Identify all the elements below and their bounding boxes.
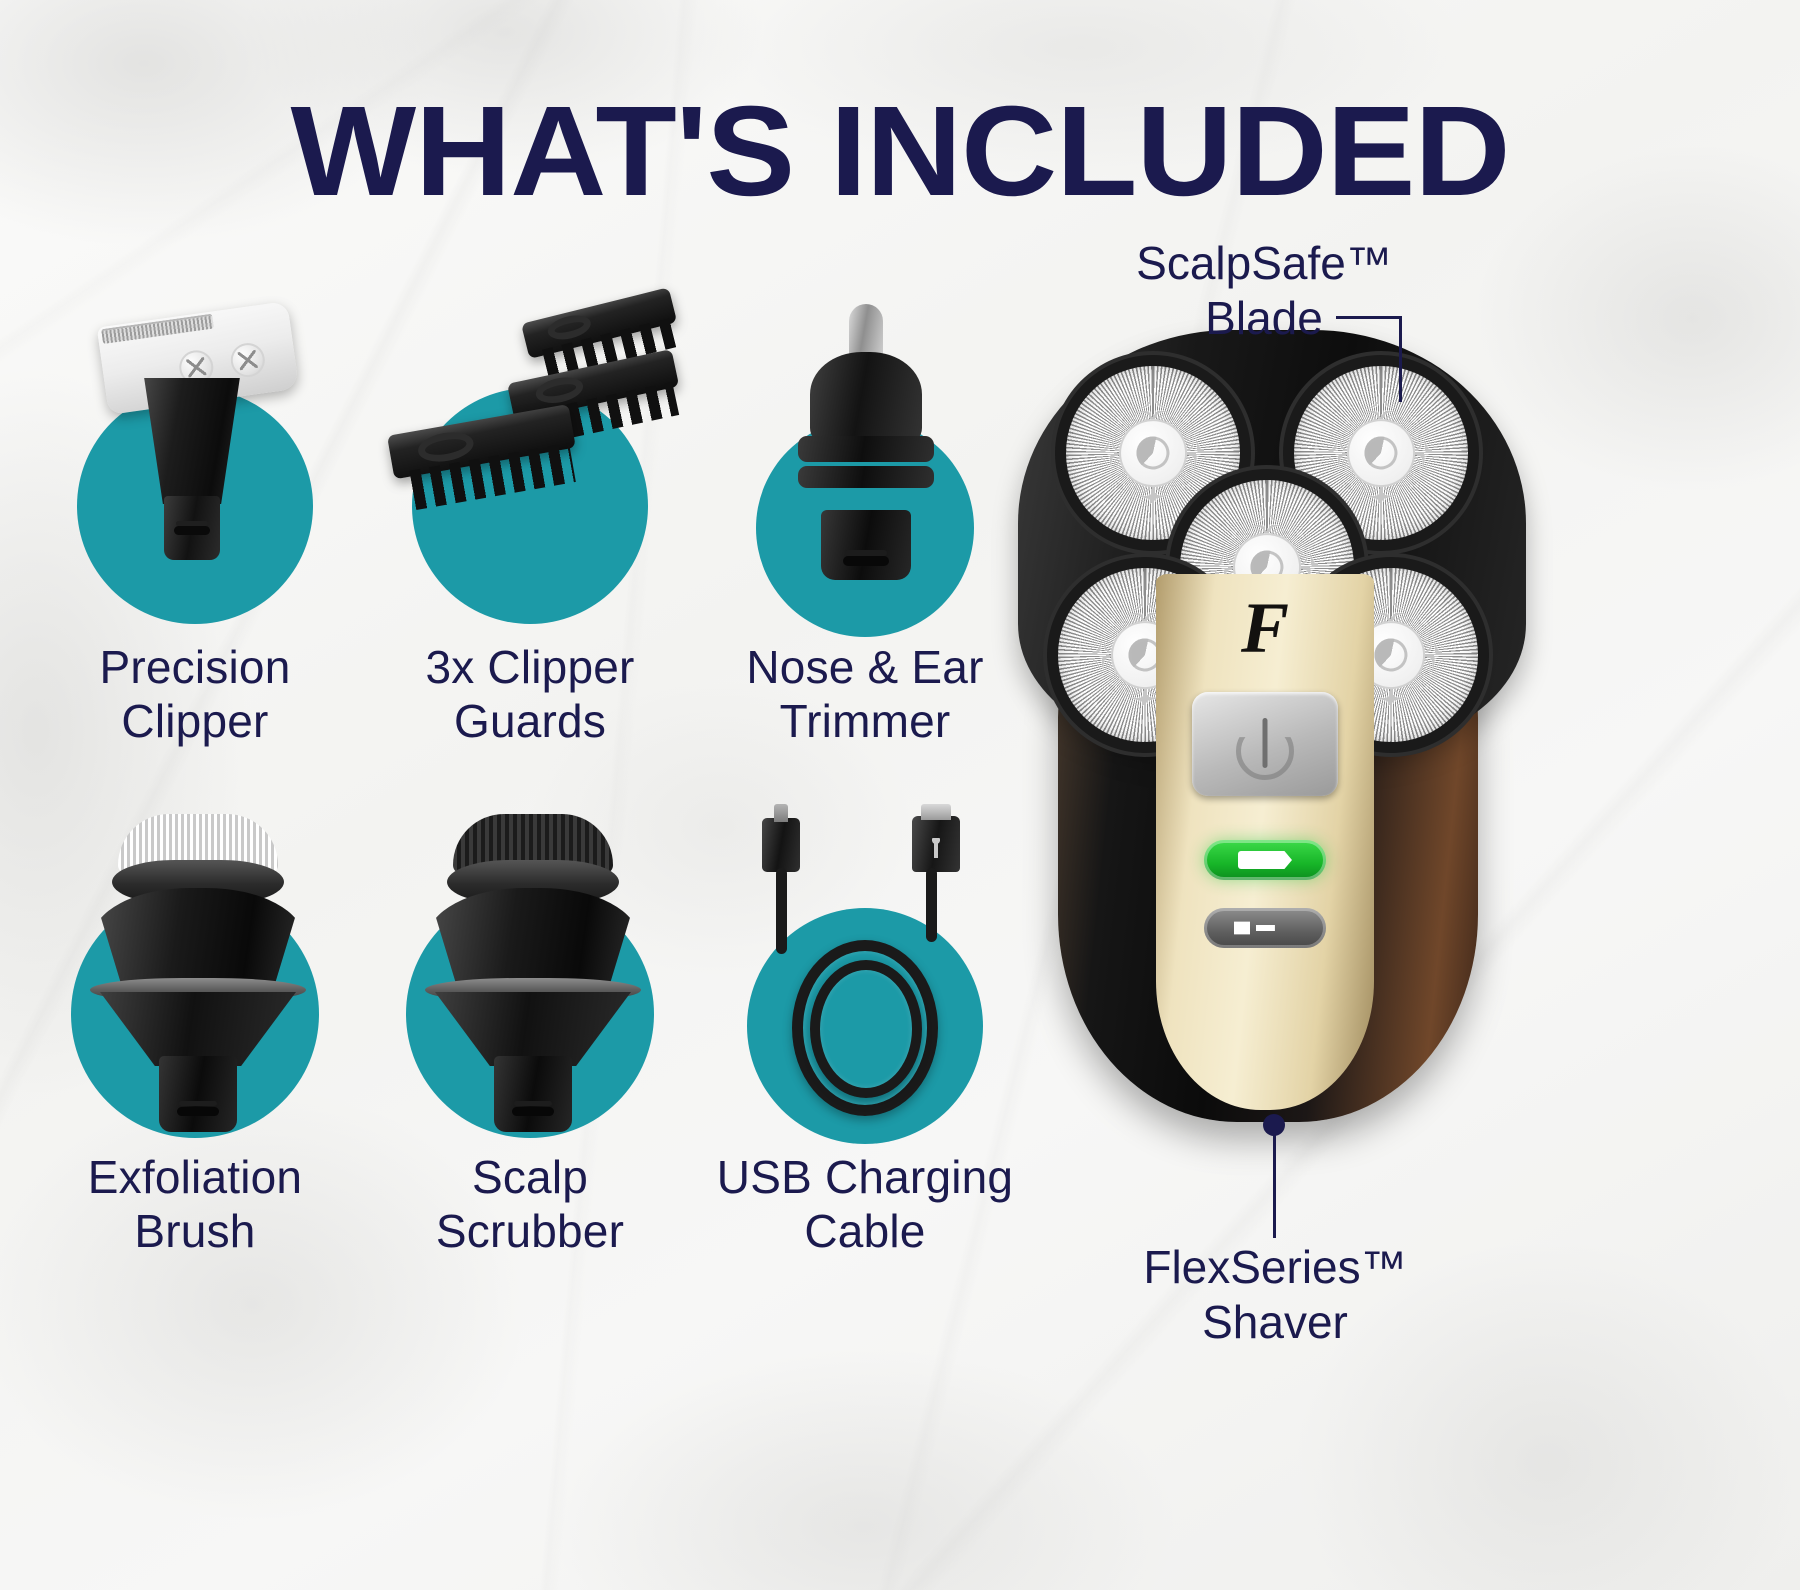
trimmer-ring-lower xyxy=(798,466,934,488)
power-button[interactable] xyxy=(1192,692,1338,796)
scalp-scrubber-art xyxy=(365,810,695,1150)
accessory-label: Scalp Scrubber xyxy=(365,1150,695,1259)
accessory-nose-ear-trimmer: Nose & Ear Trimmer xyxy=(700,300,1030,749)
brush-mount xyxy=(159,1056,237,1132)
accessory-usb-charging-cable: USB Charging Cable xyxy=(700,810,1030,1259)
battery-indicator-icon xyxy=(1204,840,1326,880)
flexseries-shaver: F xyxy=(1010,330,1530,1160)
marble-background xyxy=(0,0,1800,1590)
accessory-label: Exfoliation Brush xyxy=(30,1150,360,1259)
accessory-label: Nose & Ear Trimmer xyxy=(700,640,1030,749)
clipper-mount xyxy=(164,496,220,560)
shaver-front-plate: F xyxy=(1156,574,1374,1110)
callout-flexseries-shaver: FlexSeries™ Shaver xyxy=(1110,1240,1440,1350)
accessory-label: Precision Clipper xyxy=(30,640,360,749)
accessory-precision-clipper: Precision Clipper xyxy=(30,300,360,749)
clipper-blade xyxy=(101,314,214,344)
accessory-scalp-scrubber: Scalp Scrubber xyxy=(365,810,695,1259)
accessory-label: 3x Clipper Guards xyxy=(365,640,695,749)
trimmer-mount xyxy=(821,510,911,580)
usb-cable-art xyxy=(700,810,1030,1150)
exfoliation-brush-art xyxy=(30,810,360,1150)
accessory-exfoliation-brush: Exfoliation Brush xyxy=(30,810,360,1259)
clipper-button-right xyxy=(229,341,267,379)
brand-mark-f: F xyxy=(1156,592,1374,664)
charging-plug-icon xyxy=(1204,908,1326,948)
device-connector xyxy=(762,818,800,872)
page-title: WHAT'S INCLUDED xyxy=(0,78,1800,225)
cable-lead-right xyxy=(926,868,937,942)
cable-coil-inner xyxy=(810,960,922,1098)
callout-scalpsafe-blade: ScalpSafe™ Blade xyxy=(1104,236,1424,346)
trimmer-cone xyxy=(810,352,922,444)
trimmer-ring-upper xyxy=(798,436,934,462)
precision-clipper-art xyxy=(30,300,360,640)
cable-lead-left xyxy=(776,868,787,954)
accessory-clipper-guards: 3x Clipper Guards xyxy=(365,300,695,749)
usb-a-connector xyxy=(912,816,960,872)
scrubber-mount xyxy=(494,1056,572,1132)
nose-ear-trimmer-art xyxy=(700,300,1030,640)
accessory-label: USB Charging Cable xyxy=(700,1150,1030,1259)
clipper-guards-art xyxy=(365,300,695,640)
